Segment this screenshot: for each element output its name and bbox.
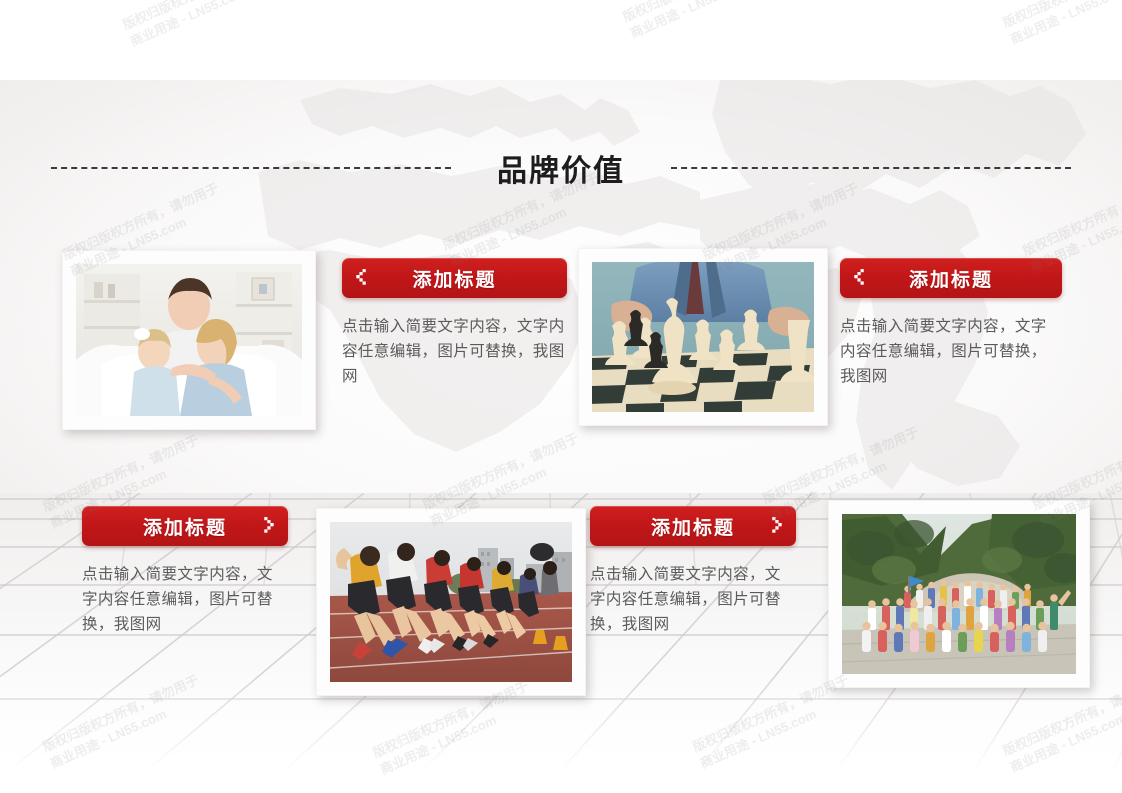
text-column-4: 添加标题: [590, 506, 796, 637]
slide-background: 品牌价值: [0, 80, 1122, 793]
top-white-strip: [0, 0, 1122, 80]
add-title-label-2: 添加标题: [878, 265, 1024, 292]
chevron-right-dotted-icon: [758, 515, 796, 537]
chevron-right-dotted-icon: [250, 515, 288, 537]
slide-title-row: 品牌价值: [0, 145, 1122, 191]
photo-frame-family[interactable]: [62, 250, 316, 430]
add-title-label-4: 添加标题: [628, 513, 758, 540]
title-rule-right: [671, 167, 1071, 169]
chevron-left-dotted-icon: [342, 267, 380, 289]
group-outing-photo: [842, 514, 1076, 674]
chevron-left-dotted-icon: [840, 267, 878, 289]
add-title-button-3[interactable]: 添加标题: [82, 506, 288, 546]
text-column-1: 添加标题 点击输入简要文字内容，文字内容任意编辑，图片可替换，我图网: [342, 258, 567, 389]
photo-frame-chess[interactable]: [578, 248, 828, 426]
body-text-1: 点击输入简要文字内容，文字内容任意编辑，图片可替换，我图网: [342, 314, 567, 389]
family-photo: [76, 264, 302, 416]
text-column-2: 添加标题 点击输入简要文字内容，文字内容任意编辑，图片可替换，我图网: [840, 258, 1062, 389]
add-title-label-1: 添加标题: [380, 265, 529, 292]
content-grid: 添加标题 点击输入简要文字内容，文字内容任意编辑，图片可替换，我图网: [0, 230, 1122, 650]
running-race-photo: [330, 522, 572, 682]
photo-frame-group[interactable]: [828, 500, 1090, 688]
add-title-label-3: 添加标题: [120, 513, 250, 540]
slide-canvas: 品牌价值: [0, 0, 1122, 793]
text-column-3: 添加标题: [82, 506, 288, 637]
body-text-4: 点击输入简要文字内容，文字内容任意编辑，图片可替换，我图网: [590, 562, 796, 637]
title-rule-left: [51, 167, 451, 169]
body-text-2: 点击输入简要文字内容，文字内容任意编辑，图片可替换，我图网: [840, 314, 1062, 389]
chess-photo: [592, 262, 814, 412]
add-title-button-2[interactable]: 添加标题: [840, 258, 1062, 298]
add-title-button-1[interactable]: 添加标题: [342, 258, 567, 298]
page-title: 品牌价值: [497, 146, 625, 190]
photo-frame-running[interactable]: [316, 508, 586, 696]
add-title-button-4[interactable]: 添加标题: [590, 506, 796, 546]
body-text-3: 点击输入简要文字内容，文字内容任意编辑，图片可替换，我图网: [82, 562, 288, 637]
